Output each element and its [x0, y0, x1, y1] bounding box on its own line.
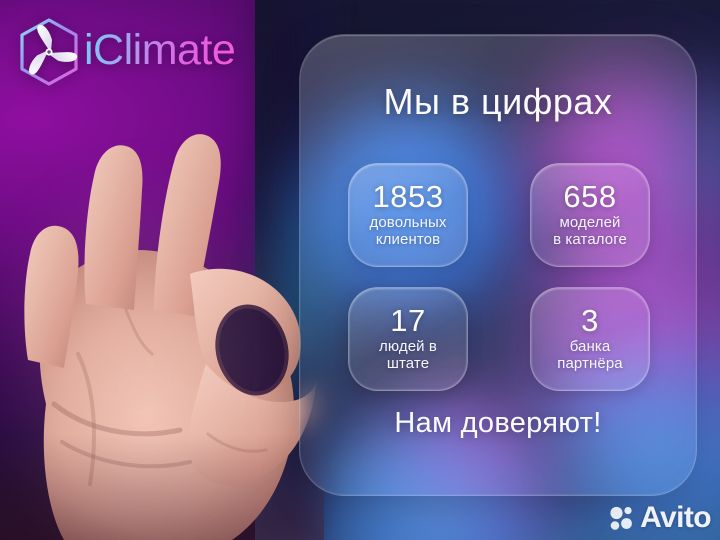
- avito-watermark: Avito: [609, 503, 711, 533]
- hexagon-wind-turbine-icon: [16, 16, 82, 88]
- brand-name: iClimate: [84, 29, 235, 76]
- avito-label: Avito: [640, 503, 711, 533]
- promo-banner: Мы в цифрах 1853 довольных клиентов 658 …: [0, 0, 720, 540]
- avito-dots-icon: [609, 505, 635, 531]
- brand-logo: iClimate: [16, 16, 235, 88]
